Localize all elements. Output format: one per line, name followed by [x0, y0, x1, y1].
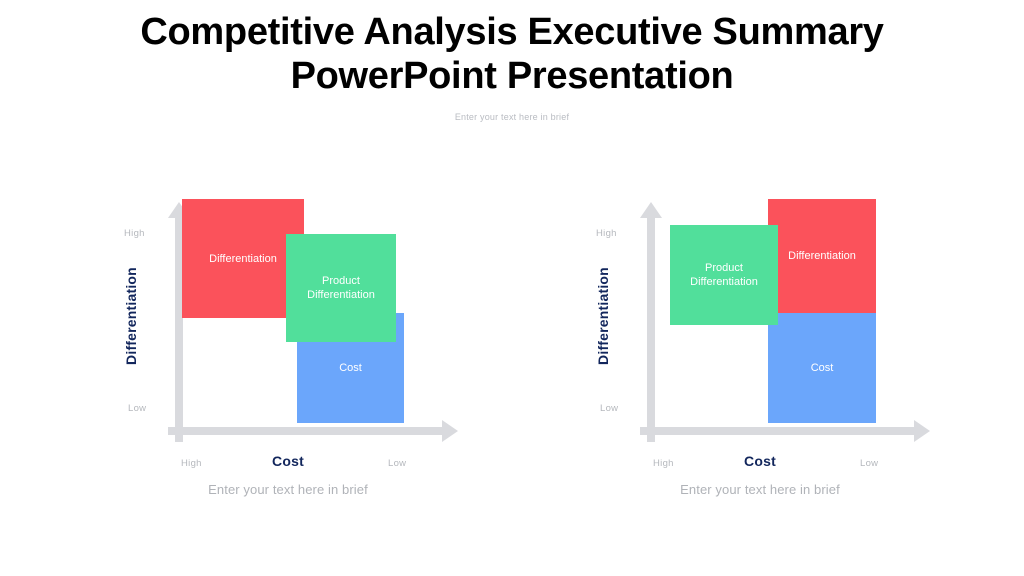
quadrant-label: Differentiation	[788, 249, 856, 263]
arrow-right-icon	[640, 420, 930, 442]
y-axis-tick-high: High	[596, 228, 617, 239]
x-axis-title: Cost	[238, 453, 338, 469]
matrix-chart-left: Differentiation Cost Product Differentia…	[108, 190, 468, 520]
title-block: Competitive Analysis Executive Summary P…	[0, 10, 1024, 122]
x-axis-tick-high: High	[181, 458, 202, 469]
chart-caption-left: Enter your text here in brief	[108, 482, 468, 497]
page-title-line-2: PowerPoint Presentation	[92, 54, 932, 98]
arrow-right-icon	[168, 420, 458, 442]
y-axis-tick-high: High	[124, 228, 145, 239]
x-axis-tick-low: Low	[860, 458, 878, 469]
chart-caption-right: Enter your text here in brief	[580, 482, 940, 497]
arrow-up-icon	[640, 202, 662, 442]
quadrant-label: Cost	[811, 361, 834, 375]
y-axis-tick-low: Low	[600, 403, 618, 414]
quadrant-label: Product Differentiation	[674, 261, 774, 289]
slide-subtitle: Enter your text here in brief	[0, 112, 1024, 122]
x-axis-title: Cost	[710, 453, 810, 469]
matrix-chart-right: Differentiation Cost Product Differentia…	[580, 190, 940, 520]
page-title: Competitive Analysis Executive Summary P…	[92, 10, 932, 98]
page-title-line-1: Competitive Analysis Executive Summary	[92, 10, 932, 54]
quadrant-label: Cost	[339, 361, 362, 375]
y-axis-title: Differentiation	[123, 256, 139, 376]
quadrant-box-product-differentiation[interactable]: Product Differentiation	[670, 225, 778, 325]
plot-area-right: Differentiation Cost Product Differentia…	[580, 190, 940, 450]
quadrant-box-differentiation[interactable]: Differentiation	[768, 199, 876, 313]
quadrant-label: Differentiation	[209, 252, 277, 266]
x-axis-tick-low: Low	[388, 458, 406, 469]
quadrant-box-cost[interactable]: Cost	[768, 313, 876, 423]
plot-area-left: Differentiation Cost Product Differentia…	[108, 190, 468, 450]
quadrant-box-product-differentiation[interactable]: Product Differentiation	[286, 234, 396, 342]
quadrant-label: Product Differentiation	[290, 274, 392, 302]
y-axis-title: Differentiation	[595, 256, 611, 376]
x-axis-tick-high: High	[653, 458, 674, 469]
y-axis-tick-low: Low	[128, 403, 146, 414]
